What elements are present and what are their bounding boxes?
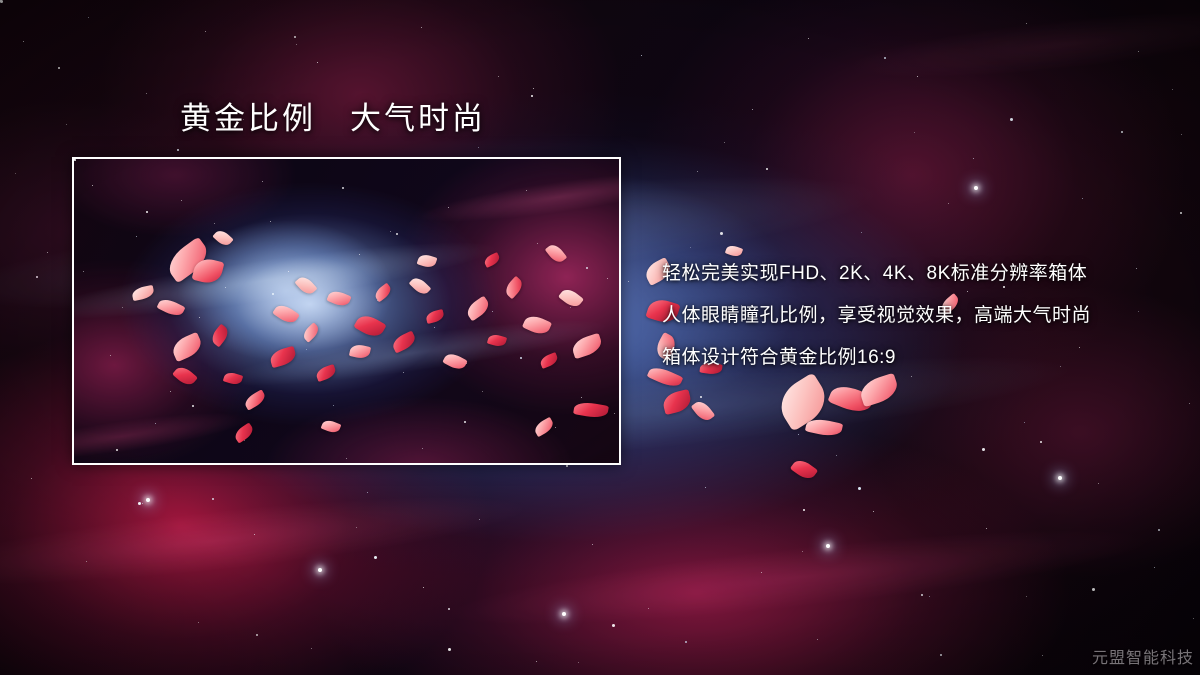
body-line-1: 轻松完美实现FHD、2K、4K、8K标准分辨率箱体 <box>662 253 1182 295</box>
slide-canvas: 黄金比例 大气时尚 轻松完美实现FHD、2K、4K、8K标准分辨率箱体 人体眼睛… <box>0 0 1200 675</box>
floating-petal <box>805 416 843 438</box>
bright-star <box>146 498 150 502</box>
photo-image <box>74 159 619 463</box>
body-text-block: 轻松完美实现FHD、2K、4K、8K标准分辨率箱体 人体眼睛瞳孔比例，享受视觉效… <box>662 253 1182 379</box>
bright-star <box>562 612 566 616</box>
bright-star <box>318 568 322 572</box>
floating-petal <box>661 389 693 415</box>
floating-petal <box>691 398 716 424</box>
floating-petal <box>827 381 874 417</box>
watermark: 元盟智能科技 <box>1092 644 1194 668</box>
floating-petal <box>772 372 834 431</box>
body-line-3: 箱体设计符合黄金比例16:9 <box>662 337 1182 379</box>
bright-star <box>1058 476 1062 480</box>
photo-frame <box>72 157 621 465</box>
bright-star <box>826 544 830 548</box>
photo-wisp-layer <box>72 157 621 465</box>
floating-petal <box>790 456 818 482</box>
page-title: 黄金比例 大气时尚 <box>180 100 486 137</box>
bright-star <box>974 186 978 190</box>
body-line-2: 人体眼睛瞳孔比例，享受视觉效果，高端大气时尚 <box>662 295 1182 337</box>
